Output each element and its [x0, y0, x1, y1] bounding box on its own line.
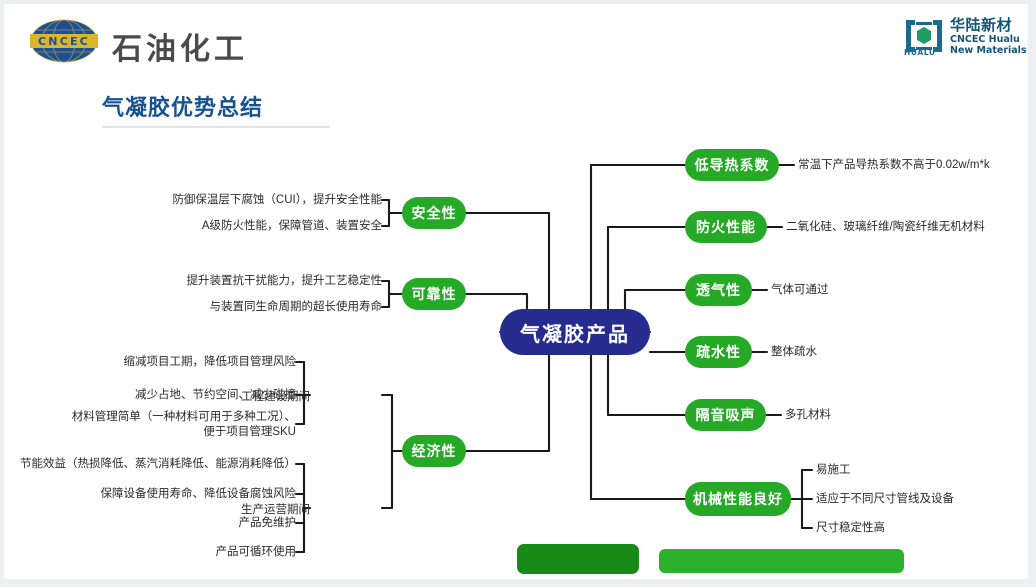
leaf-hydrophobic-1: 整体疏水 — [771, 345, 817, 360]
branch-node-fireproof[interactable]: 防火性能 — [685, 211, 767, 243]
center-node[interactable]: 气凝胶产品 — [500, 309, 650, 355]
slide-canvas: CNCEC 石油化工 华陆新材 CNCEC Hualu New Material… — [4, 4, 1028, 579]
leaf-low-conductivity-1: 常温下产品导热系数不高于0.02w/m*k — [798, 158, 990, 173]
leaf-operation-3: 产品免维护 — [239, 516, 297, 531]
leaf-mechanical-1: 易施工 — [816, 463, 851, 478]
branch-node-reliability[interactable]: 可靠性 — [402, 278, 466, 310]
leaf-operation-1: 节能效益（热损降低、蒸汽消耗降低、能源消耗降低） — [20, 457, 296, 472]
group-label-operation: 生产运营期间 — [241, 501, 310, 517]
leaf-safety-1: 防御保温层下腐蚀（CUI），提升安全性能 — [172, 193, 382, 208]
leaf-reliability-1: 提升装置抗干扰能力，提升工艺稳定性 — [187, 274, 383, 289]
leaf-mechanical-3: 尺寸稳定性高 — [816, 521, 885, 536]
leaf-soundproof-1: 多孔材料 — [785, 408, 831, 423]
branch-node-breathable[interactable]: 透气性 — [685, 274, 752, 306]
branch-node-low-conductivity[interactable]: 低导热系数 — [685, 149, 779, 181]
branch-node-soundproof[interactable]: 隔音吸声 — [685, 399, 766, 431]
leaf-construction-1: 缩减项目工期，降低项目管理风险 — [124, 355, 297, 370]
leaf-reliability-2: 与装置同生命周期的超长使用寿命 — [210, 300, 383, 315]
branch-node-safety[interactable]: 安全性 — [402, 197, 466, 229]
branch-node-economy[interactable]: 经济性 — [402, 435, 466, 467]
mindmap: 气凝胶产品 安全性 可靠性 经济性 工程建设期间 生产运营期间 防御保温层下腐蚀… — [4, 4, 1028, 579]
bottom-clipped-bar — [659, 549, 904, 573]
leaf-fireproof-1: 二氧化硅、玻璃纤维/陶瓷纤维无机材料 — [786, 220, 985, 235]
leaf-operation-4: 产品可循环使用 — [216, 545, 297, 560]
branch-node-mechanical[interactable]: 机械性能良好 — [685, 482, 791, 516]
bottom-clipped-pill — [517, 544, 639, 574]
leaf-construction-3: 材料管理简单（一种材料可用于多种工况）、 便于项目管理SKU — [72, 410, 296, 440]
leaf-breathable-1: 气体可通过 — [771, 283, 829, 298]
branch-node-hydrophobic[interactable]: 疏水性 — [685, 336, 752, 368]
leaf-mechanical-2: 适应于不同尺寸管线及设备 — [816, 492, 954, 507]
leaf-safety-2: A级防火性能，保障管道、装置安全 — [202, 219, 382, 234]
leaf-operation-2: 保障设备使用寿命、降低设备腐蚀风险 — [101, 487, 297, 502]
leaf-construction-2: 减少占地、节约空间、减少碰撞 — [135, 388, 296, 403]
